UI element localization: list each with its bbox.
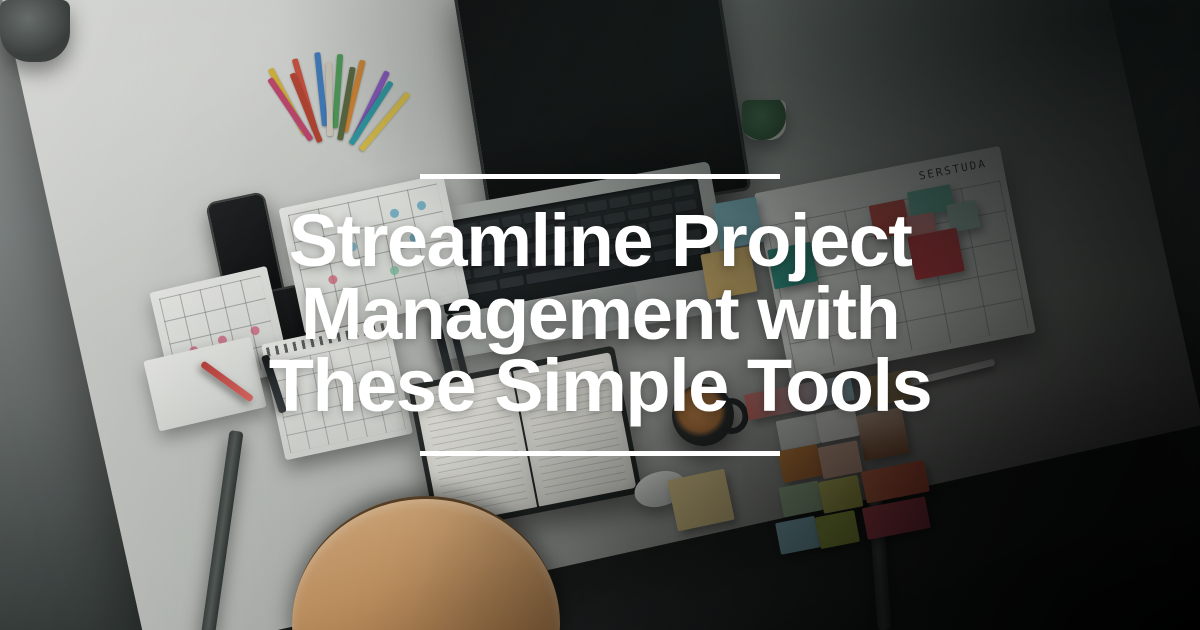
divider-rule-top [420, 174, 780, 179]
page-title: Streamline Project Management with These… [250, 205, 950, 423]
divider-rule-bottom [420, 451, 780, 456]
headline-block: Streamline Project Management with These… [0, 0, 1200, 630]
social-share-hero-card: SERSTUDA Streamline Project Management w… [0, 0, 1200, 630]
